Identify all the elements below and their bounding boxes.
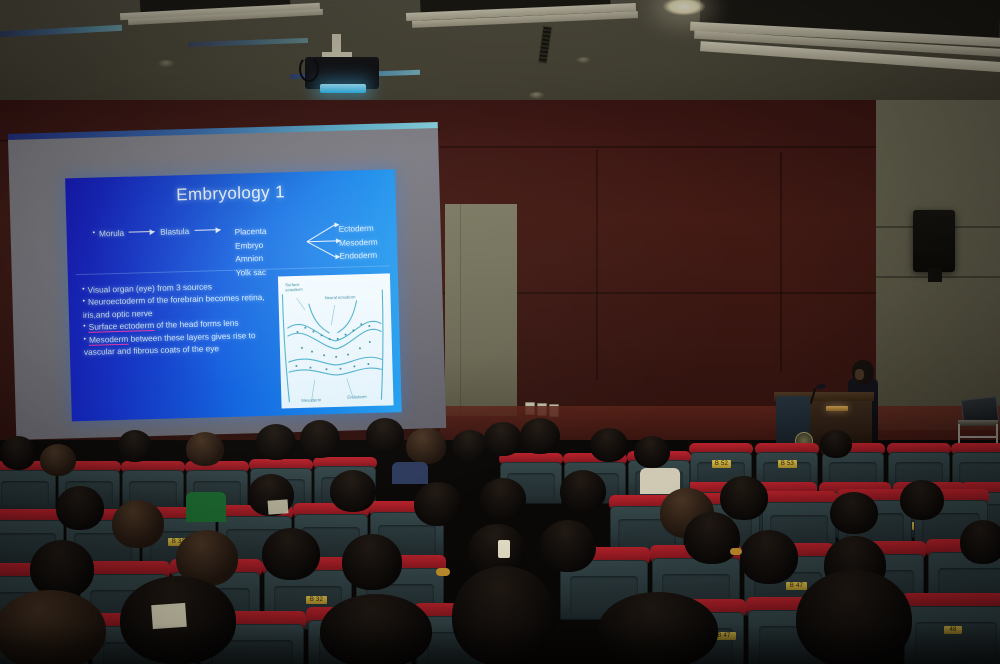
audience-head [186,432,224,466]
arrow-icon [129,231,155,233]
audience-head [820,430,852,458]
recessed-light-unlit [158,60,176,68]
audience-head [56,486,104,530]
audience-head [40,444,76,476]
wall-seam [780,152,782,372]
bullet-underlined-term: Surface ectoderm [89,320,155,333]
audience-shirt [392,462,428,484]
branch-arrows-icon [304,221,341,266]
wall-speaker-bracket [928,268,942,282]
seat-placard: B 32 [306,596,327,604]
bullet-glyph: • [82,286,85,293]
audience-head [560,470,606,512]
seat-placard: B 52 [712,460,731,468]
audience-head [520,418,560,454]
audience-head [740,530,798,584]
bullet-text: of the head forms lens [154,318,239,330]
audience-head [484,422,522,456]
presenter-face [855,369,864,380]
audience-head [342,534,402,590]
flow-step-morula: Morula [99,229,124,239]
auditorium-photo: Embryology 1 •MorulaBlastula Placenta Em… [0,0,1000,664]
arrow-icon [194,229,220,231]
list-item: Ectoderm [338,222,377,237]
audience-head [634,436,670,468]
slide-right-column: Ectoderm Mesoderm Endoderm [338,222,378,264]
bullet-glyph: • [83,323,86,330]
audience-head [900,480,944,520]
list-item: Mesoderm [339,235,378,250]
audience-head [256,424,296,460]
audience-head [684,512,740,564]
hair-tie [730,548,742,555]
wall-speaker [913,210,955,272]
audience-head [330,470,376,512]
recessed-light-unlit [529,92,545,99]
audience-head [590,428,628,462]
audience-head [112,500,164,548]
bullet-glyph: • [82,298,85,305]
bullet-underlined-term: Mesoderm [89,333,128,345]
seat-placard: B 53 [778,460,797,468]
diagram-label: Neural ectoderm [324,294,360,300]
seat[interactable] [0,470,56,512]
laptop-stand-shelf [958,436,998,438]
audience-head [118,430,152,462]
wall-seam [596,150,598,380]
germ-layer-cross-section-icon [278,273,394,408]
audience-head [406,428,446,464]
audience-head [540,520,596,572]
hair-clip [498,540,510,558]
audience-shirt [186,492,226,522]
seat-placard: B 47 [786,582,807,590]
audience-head [262,528,320,580]
list-item: Embryo [235,238,267,252]
audience-head [452,430,488,462]
foreground-shadow [0,624,1000,664]
projection-screen: Embryology 1 •MorulaBlastula Placenta Em… [8,128,446,440]
projected-slide: Embryology 1 •MorulaBlastula Placenta Em… [65,169,402,421]
audience-head [0,436,36,470]
bullet-text: Neuroectoderm of the forebrain becomes r… [83,292,265,319]
diagram-label: Surface ectoderm [285,281,315,292]
notebook-paper [268,499,289,514]
audience-head [414,482,462,526]
audience-head [960,520,1000,564]
bullet-glyph: • [93,230,96,237]
list-item: Endoderm [339,249,378,264]
wall-light-panel [445,204,517,416]
projector-lens-glow [320,84,366,93]
audience-head [30,540,94,598]
flow-step-blastula: Blastula [160,227,189,237]
recessed-light-unlit [576,57,592,64]
laptop-keyboard[interactable] [958,420,998,426]
audience-head [720,476,768,520]
audience-head [480,478,526,520]
diagram-label: Mesoderm [301,397,331,403]
projector-mount-pole [332,34,341,54]
wall-seam [460,204,461,416]
slide-middle-column: Placenta Embryo Amnion Yolk sac [234,225,267,280]
bullet-glyph: • [83,336,86,343]
list-item: Placenta [234,225,266,239]
projector-cable [299,56,319,82]
audience-head [300,420,340,458]
diagram-label: Endoderm [347,394,377,400]
lectern-reading-light [826,406,848,411]
hair-tie [436,568,450,576]
audience-head [830,492,878,534]
audience-head [366,418,404,452]
slide-bullet-list: •Visual organ (eye) from 3 sources •Neur… [82,279,280,359]
slide-histology-diagram: Surface ectoderm Neural ectoderm Mesoder… [278,273,394,408]
list-item: Amnion [235,252,267,266]
list-item: Yolk sac [236,265,268,279]
